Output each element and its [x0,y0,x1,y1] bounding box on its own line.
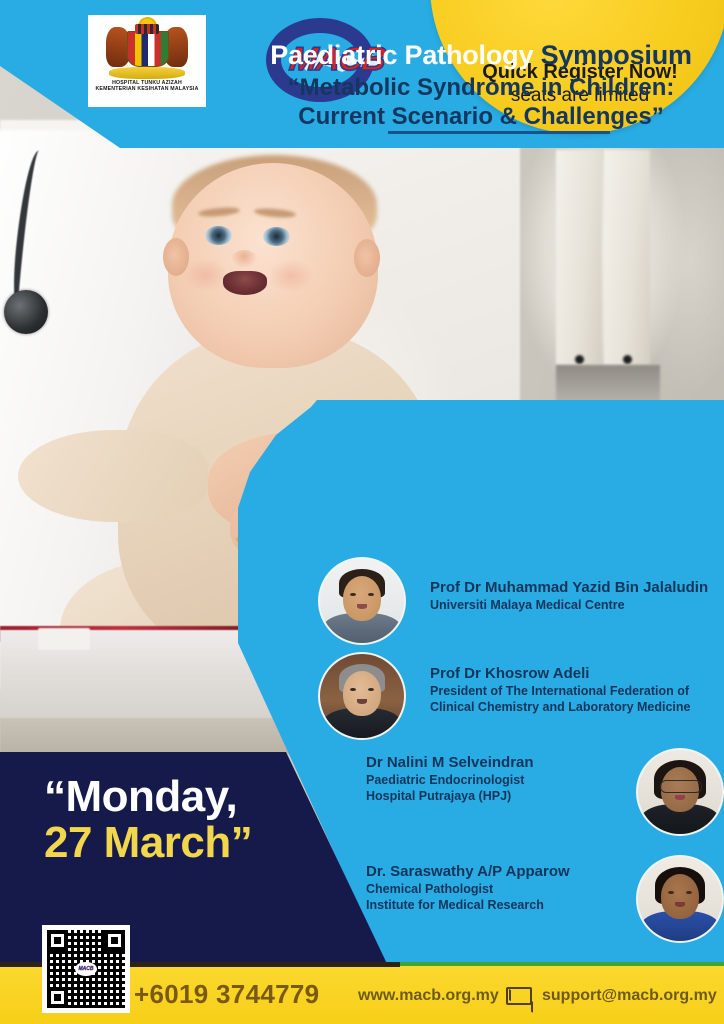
poster-root: HOSPITAL TUNKU AZIZAH KEMENTERIAN KESIHA… [0,0,724,1024]
contact-website[interactable]: www.macb.org.my [358,987,499,1005]
speaker-photo-saraswathy [636,855,724,943]
contact-email[interactable]: support@macb.org.my [542,987,717,1005]
symposium-title: Paediatric Pathology Symposium [238,40,724,71]
contact-phone[interactable]: +6019 3744779 [134,979,319,1010]
baby-eye [263,227,290,246]
speaker-role-line2: Hospital Putrajaya (HPJ) [366,788,534,804]
government-hospital-logo: HOSPITAL TUNKU AZIZAH KEMENTERIAN KESIHA… [88,15,206,107]
symposium-subtitle: “Metabolic Syndrome in Children: Current… [238,73,724,132]
office-binder [604,150,650,365]
govt-logo-caption: HOSPITAL TUNKU AZIZAH KEMENTERIAN KESIHA… [95,81,198,93]
speaker-name: Dr. Saraswathy A/P Apparow [366,863,570,881]
title-divider [388,131,610,134]
speaker-role-line2: Clinical Chemistry and Laboratory Medici… [430,699,690,715]
baby-mouth [223,271,267,295]
speaker-photo-yazid [318,557,406,645]
counter-edge [0,718,300,754]
baby-nose [231,250,257,268]
qr-logo-text: MACB [79,966,94,972]
baby-cheek [268,259,314,293]
baby-eye [205,226,232,245]
speaker-role-line1: President of The International Federatio… [430,683,690,699]
govt-logo-line2: KEMENTERIAN KESIHATAN MALAYSIA [95,87,198,93]
symposium-subtitle-line2: Current Scenario & Challenges” [238,102,724,131]
speaker-role-line2: Institute for Medical Research [366,897,570,913]
speaker-role-line1: Paediatric Endocrinologist [366,772,534,788]
baby-ear [354,239,380,277]
symposium-title-accent: Symposium [541,40,692,70]
footer-green-rule [400,962,724,966]
stethoscope-icon [4,290,48,334]
date-line-2: 27 March” [44,818,252,868]
speaker-name: Prof Dr Muhammad Yazid Bin Jalaludin [430,579,708,597]
qr-code-icon[interactable]: MACB [42,925,130,1013]
office-shelf [556,365,660,403]
date-line-1: “Monday, [44,772,237,822]
scale-label [38,628,90,650]
speaker-name: Dr Nalini M Selveindran [366,754,534,772]
speaker-photo-adeli [318,652,406,740]
baby-cheek [183,258,229,292]
speaker-role-line1: Chemical Pathologist [366,881,570,897]
symposium-subtitle-line1: “Metabolic Syndrome in Children: [238,73,724,102]
symposium-title-main: Paediatric Pathology [270,40,540,70]
baby-arm [18,430,208,522]
malaysia-coat-of-arms-icon [99,19,195,79]
envelope-icon [506,987,532,1005]
qr-center-logo: MACB [75,962,97,976]
office-binder [556,150,602,365]
speaker-name: Prof Dr Khosrow Adeli [430,665,690,683]
speaker-photo-nalini [636,748,724,836]
speaker-role-line1: Universiti Malaya Medical Centre [430,597,708,613]
